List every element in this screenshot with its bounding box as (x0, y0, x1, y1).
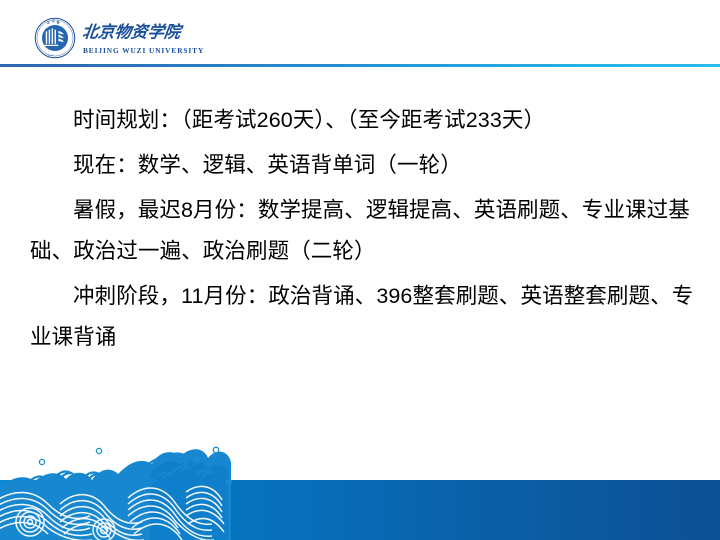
footer-wave-decoration (0, 430, 720, 540)
university-seal-icon: 北 京 物 B W U (34, 17, 76, 59)
slide-body: 时间规划：（距考试260天）、（至今距考试233天） 现在：数学、逻辑、英语背单… (0, 100, 720, 362)
body-paragraph: 时间规划：（距考试260天）、（至今距考试233天） (30, 100, 694, 141)
svg-text:北京物资学院: 北京物资学院 (83, 23, 185, 42)
university-name-cn-icon: 北京物资学院 (83, 20, 189, 46)
wave-pattern-icon (0, 430, 720, 540)
university-logo: 北 京 物 B W U 北京物资学院 BEIJING WUZI UNIVERSI… (34, 16, 202, 60)
svg-text:物: 物 (57, 20, 60, 24)
svg-text:北: 北 (47, 20, 50, 24)
slide-header: 北 京 物 B W U 北京物资学院 BEIJING WUZI UNIVERSI… (0, 0, 720, 68)
bubble-icon (39, 447, 231, 484)
header-divider (0, 64, 720, 67)
body-paragraph: 暑假，最迟8月份：数学提高、逻辑提高、英语刷题、专业课过基础、政治过一遍、政治刷… (30, 190, 694, 272)
svg-text:B W U: B W U (48, 55, 54, 57)
body-paragraph: 现在：数学、逻辑、英语背单词（一轮） (30, 145, 694, 186)
slide: 北 京 物 B W U 北京物资学院 BEIJING WUZI UNIVERSI… (0, 0, 720, 540)
university-name-en: BEIJING WUZI UNIVERSITY (83, 47, 204, 56)
svg-text:京: 京 (52, 19, 55, 23)
body-paragraph: 冲刺阶段，11月份：政治背诵、396整套刷题、英语整套刷题、专业课背诵 (30, 276, 694, 358)
logo-wordmark: 北京物资学院 BEIJING WUZI UNIVERSITY (83, 17, 202, 59)
